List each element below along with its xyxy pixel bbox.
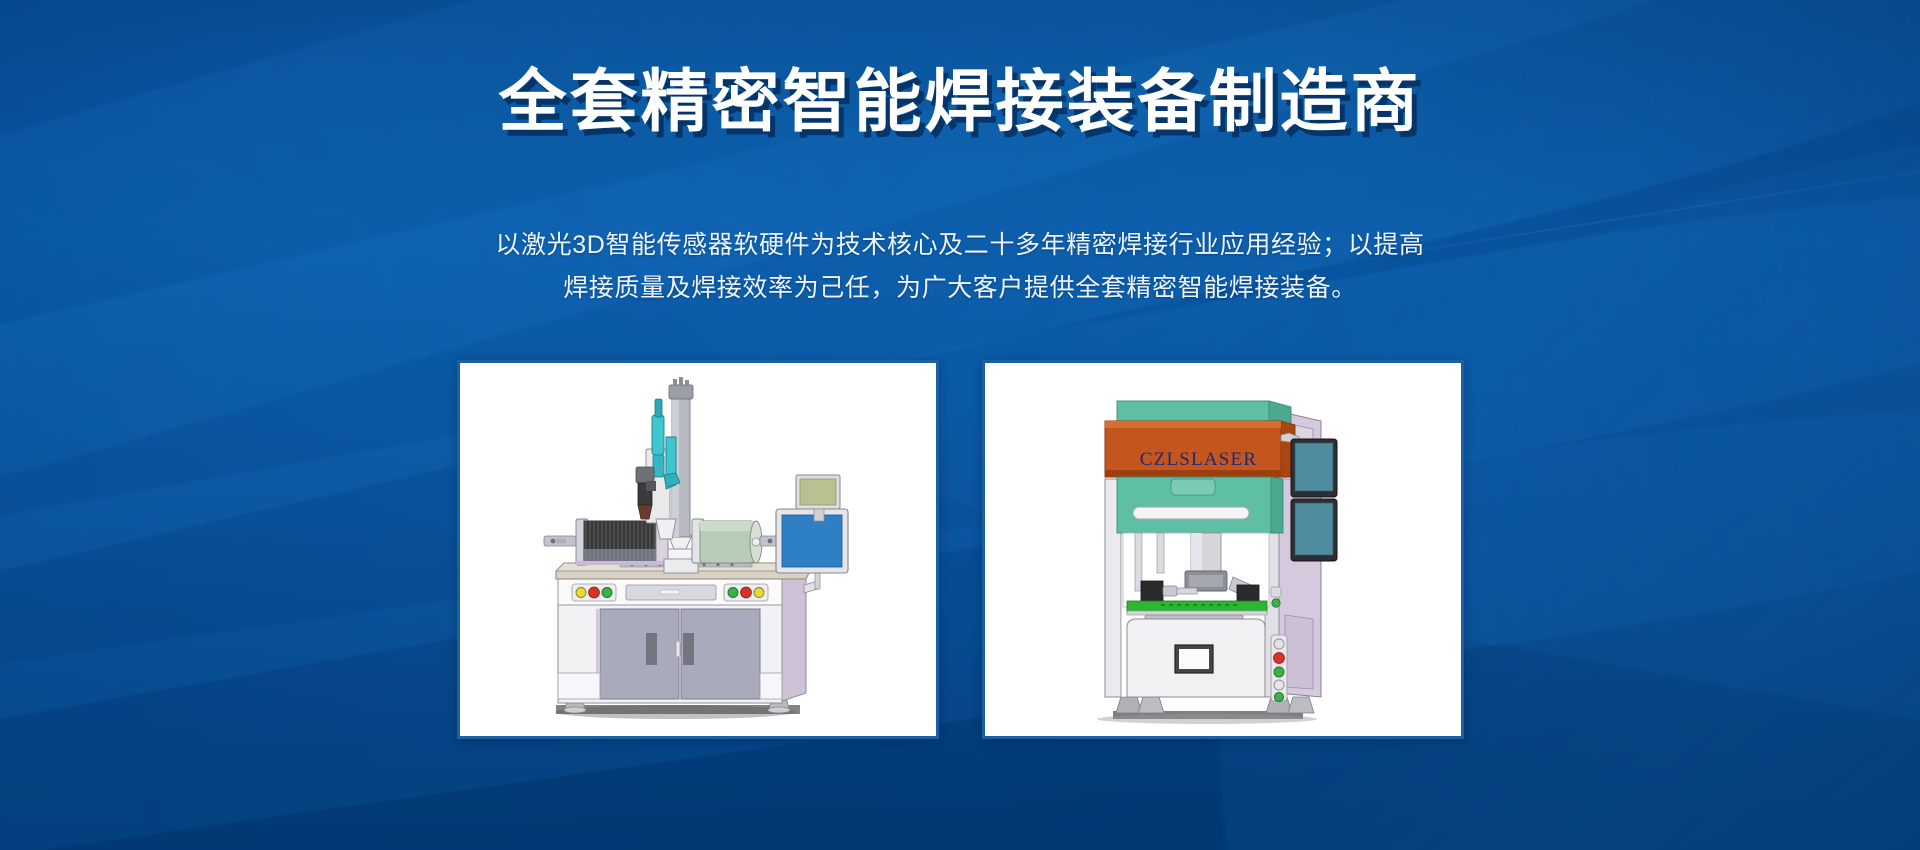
product-image-left xyxy=(460,363,936,736)
product-image-right: CZLSLASER xyxy=(985,363,1461,736)
welding-bench-machine-illustration xyxy=(460,363,939,739)
product-gallery: CZLSLASER xyxy=(457,360,1464,739)
description-line-2: 焊接质量及焊接效率为己任，为广大客户提供全套精密智能焊接装备。 xyxy=(405,267,1515,310)
hero-banner: 全套精密智能焊接装备制造商 以激光3D智能传感器软硬件为技术核心及二十多年精密焊… xyxy=(0,0,1920,850)
product-card-right[interactable]: CZLSLASER xyxy=(982,360,1464,739)
page-title: 全套精密智能焊接装备制造商 xyxy=(498,62,1421,142)
description-line-1: 以激光3D智能传感器软硬件为技术核心及二十多年精密焊接行业应用经验；以提高 xyxy=(405,224,1515,267)
banner-description: 以激光3D智能传感器软硬件为技术核心及二十多年精密焊接行业应用经验；以提高 焊接… xyxy=(405,224,1515,310)
product-card-left[interactable] xyxy=(457,360,939,739)
banner-content: 全套精密智能焊接装备制造商 以激光3D智能传感器软硬件为技术核心及二十多年精密焊… xyxy=(0,0,1920,850)
czlslaser-cabinet-machine-illustration xyxy=(985,363,1464,739)
machine-brand-label: CZLSLASER xyxy=(1109,449,1289,471)
